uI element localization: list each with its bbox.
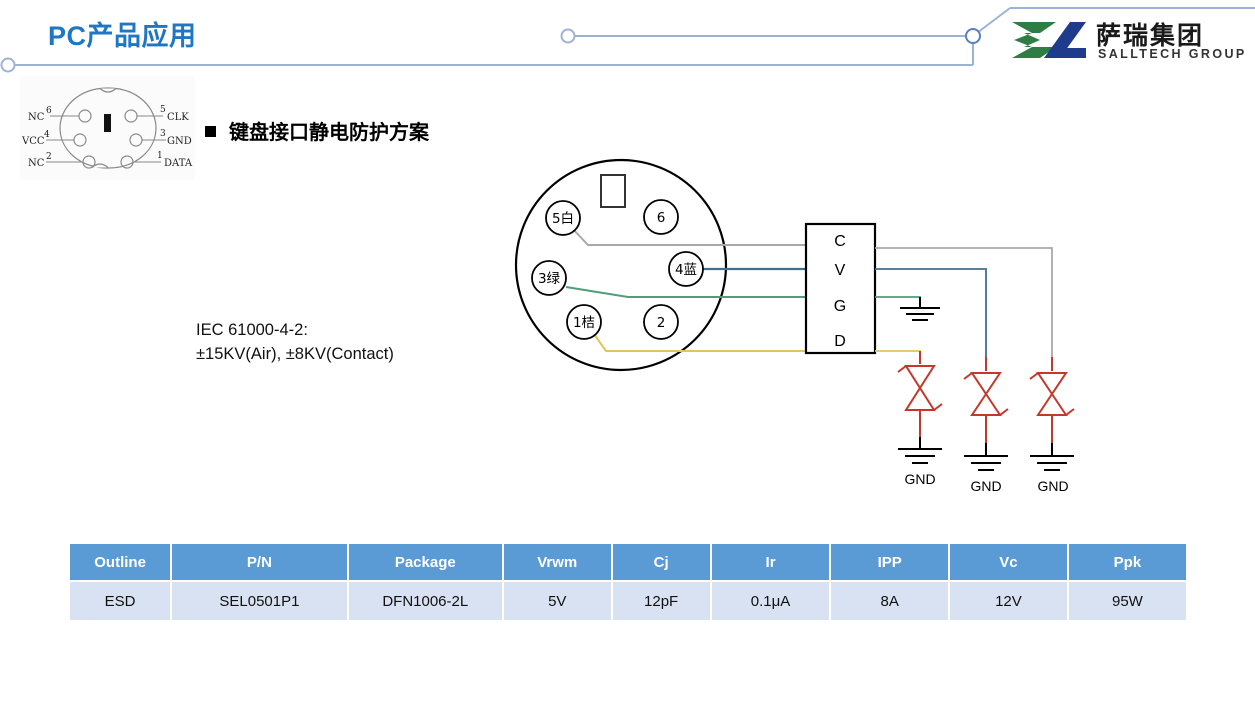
cell-package: DFN1006-2L (349, 582, 502, 620)
gnd-label-1: GND (904, 471, 935, 487)
wire-data-yellow (594, 334, 806, 351)
cell-pn: SEL0501P1 (172, 582, 346, 620)
col-header-vrwm: Vrwm (504, 544, 611, 580)
pin-label-4: 4蓝 (675, 262, 697, 278)
gnd-label-3: GND (1037, 478, 1068, 494)
col-header-outline: Outline (70, 544, 170, 580)
col-header-ppk: Ppk (1069, 544, 1186, 580)
table-row: ESD SEL0501P1 DFN1006-2L 5V 12pF 0.1μA 8… (70, 582, 1186, 620)
earth-ground-icon (964, 443, 1008, 470)
earth-ground-icon (900, 297, 940, 320)
wire-clk-gray (572, 228, 806, 245)
pin-label-6: 6 (657, 210, 666, 226)
bidirectional-tvs-diode-icon (1030, 357, 1074, 446)
device-pin-label-g: G (834, 298, 846, 315)
cell-cj: 12pF (613, 582, 710, 620)
bidirectional-tvs-diode-icon (964, 357, 1008, 446)
connector-key-slot-icon (601, 175, 625, 207)
cell-outline: ESD (70, 582, 170, 620)
col-header-package: Package (349, 544, 502, 580)
table-header-row: Outline P/N Package Vrwm Cj Ir IPP Vc Pp… (70, 544, 1186, 580)
bidirectional-tvs-diode-icon (898, 351, 942, 440)
wire-gnd-green (566, 287, 806, 297)
col-header-vc: Vc (950, 544, 1067, 580)
wire-g-to-gnd (875, 297, 920, 300)
col-header-pn: P/N (172, 544, 346, 580)
pin-label-1: 1桔 (573, 315, 595, 331)
parameter-table: Outline P/N Package Vrwm Cj Ir IPP Vc Pp… (68, 544, 1188, 620)
earth-ground-icon (898, 437, 942, 463)
cell-vc: 12V (950, 582, 1067, 620)
cell-ir: 0.1μA (712, 582, 830, 620)
earth-ground-icon (1030, 443, 1074, 470)
gnd-label-2: GND (970, 478, 1001, 494)
pin-label-2: 2 (657, 315, 666, 331)
pin-label-5: 5白 (552, 211, 574, 227)
cell-ppk: 95W (1069, 582, 1186, 620)
cell-vrwm: 5V (504, 582, 611, 620)
esd-protection-schematic: 5白 6 3绿 4蓝 1桔 2 C V G D GND GND GND (0, 0, 1255, 530)
wire-d-to-tvs1 (875, 351, 920, 357)
device-pin-label-d: D (834, 333, 846, 350)
col-header-ir: Ir (712, 544, 830, 580)
wire-c-to-tvs3 (875, 248, 1052, 357)
pin-label-3: 3绿 (538, 271, 561, 287)
device-pin-label-c: C (834, 233, 846, 250)
col-header-cj: Cj (613, 544, 710, 580)
cell-ipp: 8A (831, 582, 948, 620)
device-pin-label-v: V (835, 262, 846, 279)
col-header-ipp: IPP (831, 544, 948, 580)
